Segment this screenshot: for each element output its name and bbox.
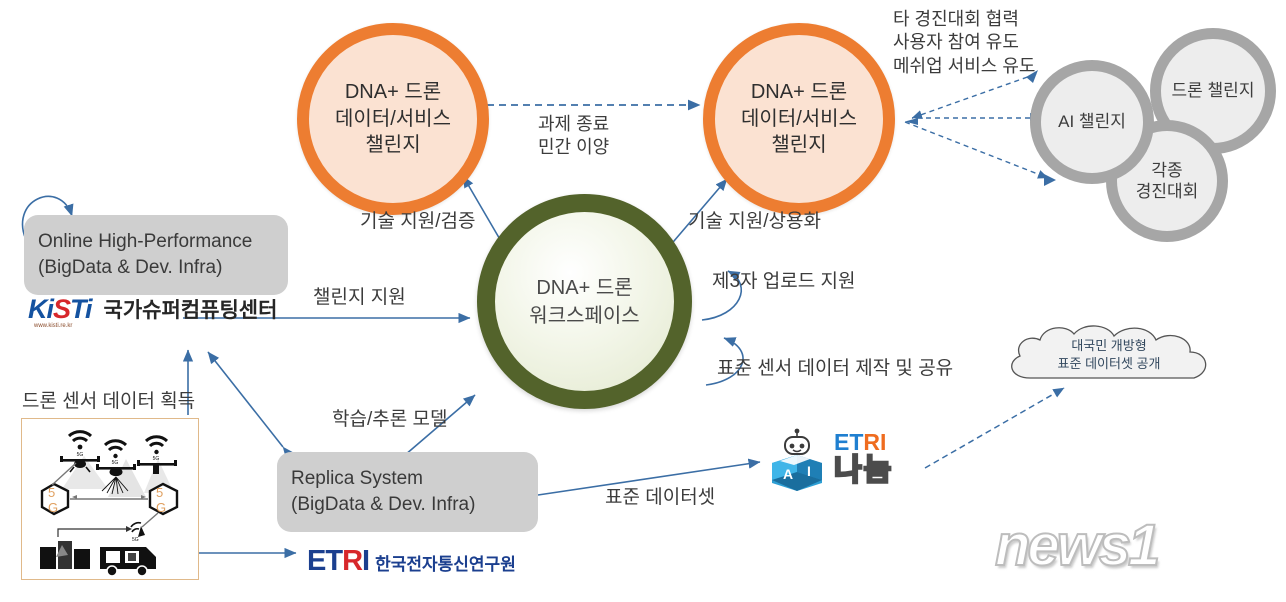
cube-letter-i: I	[807, 463, 811, 479]
node-online-high-performance[interactable]: Online High-Performance (BigData & Dev. …	[24, 215, 288, 295]
node-replica-system[interactable]: Replica System (BigData & Dev. Infra)	[277, 452, 538, 532]
node-drone-workspace[interactable]: DNA+ 드론 워크스페이스	[477, 194, 692, 409]
edge-kisti-replica	[208, 352, 283, 447]
ai-robot-cube-icon: A I	[766, 425, 828, 491]
drone-icon-3: 5G	[137, 437, 177, 474]
node-ai-challenge[interactable]: AI 챌린지	[1030, 60, 1154, 184]
label-standard-sensor-data: 표준 센서 데이터 제작 및 공유	[717, 357, 953, 382]
node-replica-system-label: Replica System (BigData & Dev. Infra)	[291, 466, 475, 517]
nanum-etri-text: ETRI	[834, 431, 886, 454]
etri-korean-name: 한국전자통신연구원	[375, 556, 516, 576]
etri-wordmark: ETRI	[307, 547, 369, 576]
drone-sensor-image-panel: 5G 5G	[21, 418, 199, 580]
cube-letter-a: A	[783, 466, 793, 482]
node-drone-challenge-label: 드론 챌린지	[1172, 80, 1255, 101]
kisti-korean-name: 국가슈퍼컴퓨팅센터	[104, 300, 278, 323]
drone-icon-1: 5G	[60, 432, 100, 472]
svg-text:5G: 5G	[112, 460, 119, 466]
drone-scene-illustration: 5G 5G	[22, 419, 199, 580]
label-task-end-transfer: 과제 종료 민간 이양	[538, 113, 609, 160]
label-other-contest-cooperation: 타 경진대회 협력 사용자 참여 유도 메쉬업 서비스 유도	[893, 8, 1035, 78]
kisti-mark-ti: Ti	[70, 294, 92, 324]
nanum-korean-name: 나눔	[834, 456, 893, 486]
truck-icon	[100, 547, 156, 576]
node-ai-challenge-label: AI 챌린지	[1058, 111, 1126, 132]
etri-logo: ETRI 한국전자통신연구원	[307, 547, 516, 576]
kisti-wordmark: KiSTi www.kisti.re.kr	[28, 296, 92, 323]
city-icon	[40, 541, 90, 569]
node-drone-workspace-label: DNA+ 드론 워크스페이스	[529, 274, 639, 330]
label-tech-support-commercial: 기술 지원/상용화	[688, 210, 821, 235]
svg-text:G: G	[48, 500, 58, 515]
label-drone-sensor-acquire: 드론 센서 데이터 획득	[22, 390, 195, 415]
nanum-etri-ri: RI	[863, 429, 886, 455]
label-challenge-support: 챌린지 지원	[313, 286, 406, 311]
node-challenge-right-label: DNA+ 드론 데이터/서비스 챌린지	[741, 79, 857, 159]
svg-text:5: 5	[48, 485, 55, 500]
node-open-dataset-cloud[interactable]: 대국민 개방형 표준 데이터셋 공개	[996, 322, 1222, 394]
news1-watermark: news1	[995, 512, 1157, 579]
label-tech-support-verify: 기술 지원/검증	[360, 210, 475, 235]
kisti-url: www.kisti.re.kr	[34, 323, 72, 329]
svg-text:5: 5	[156, 485, 163, 500]
etri-mark-i: I	[362, 545, 369, 577]
kisti-mark-ki: Ki	[28, 294, 53, 324]
node-challenge-right[interactable]: DNA+ 드론 데이터/서비스 챌린지	[703, 23, 895, 215]
label-train-infer-model: 학습/추론 모델	[332, 408, 447, 433]
node-online-high-performance-label: Online High-Performance (BigData & Dev. …	[38, 229, 252, 280]
svg-text:5G: 5G	[153, 456, 160, 462]
etri-mark-et: ET	[307, 545, 342, 577]
hexagon-5g-left: 5 G	[42, 484, 68, 515]
node-challenge-left[interactable]: DNA+ 드론 데이터/서비스 챌린지	[297, 23, 489, 215]
diagram-canvas: DNA+ 드론 데이터/서비스 챌린지 DNA+ 드론 데이터/서비스 챌린지 …	[0, 0, 1286, 602]
svg-text:5G: 5G	[77, 452, 84, 458]
etri-mark-r: R	[342, 545, 362, 577]
cloud-label: 대국민 개방형 표준 데이터셋 공개	[996, 322, 1222, 394]
nanum-etri-et: ET	[834, 429, 863, 455]
kisti-logo: KiSTi www.kisti.re.kr 국가슈퍼컴퓨팅센터	[28, 296, 277, 323]
node-various-contest-label: 각종 경진대회	[1136, 160, 1199, 203]
label-standard-dataset: 표준 데이터셋	[605, 486, 715, 511]
node-challenge-left-label: DNA+ 드론 데이터/서비스 챌린지	[335, 79, 451, 159]
edge-nanum-to-cloud	[925, 388, 1064, 468]
etri-ai-nanum-logo: A I ETRI 나눔	[766, 425, 893, 491]
kisti-mark-s: S	[53, 294, 70, 324]
label-third-party-upload: 제3자 업로드 지원	[712, 270, 856, 295]
hexagon-5g-right: 5 G	[150, 484, 177, 515]
svg-text:5G: 5G	[132, 537, 139, 543]
nanum-wordmark: ETRI 나눔	[834, 431, 893, 486]
